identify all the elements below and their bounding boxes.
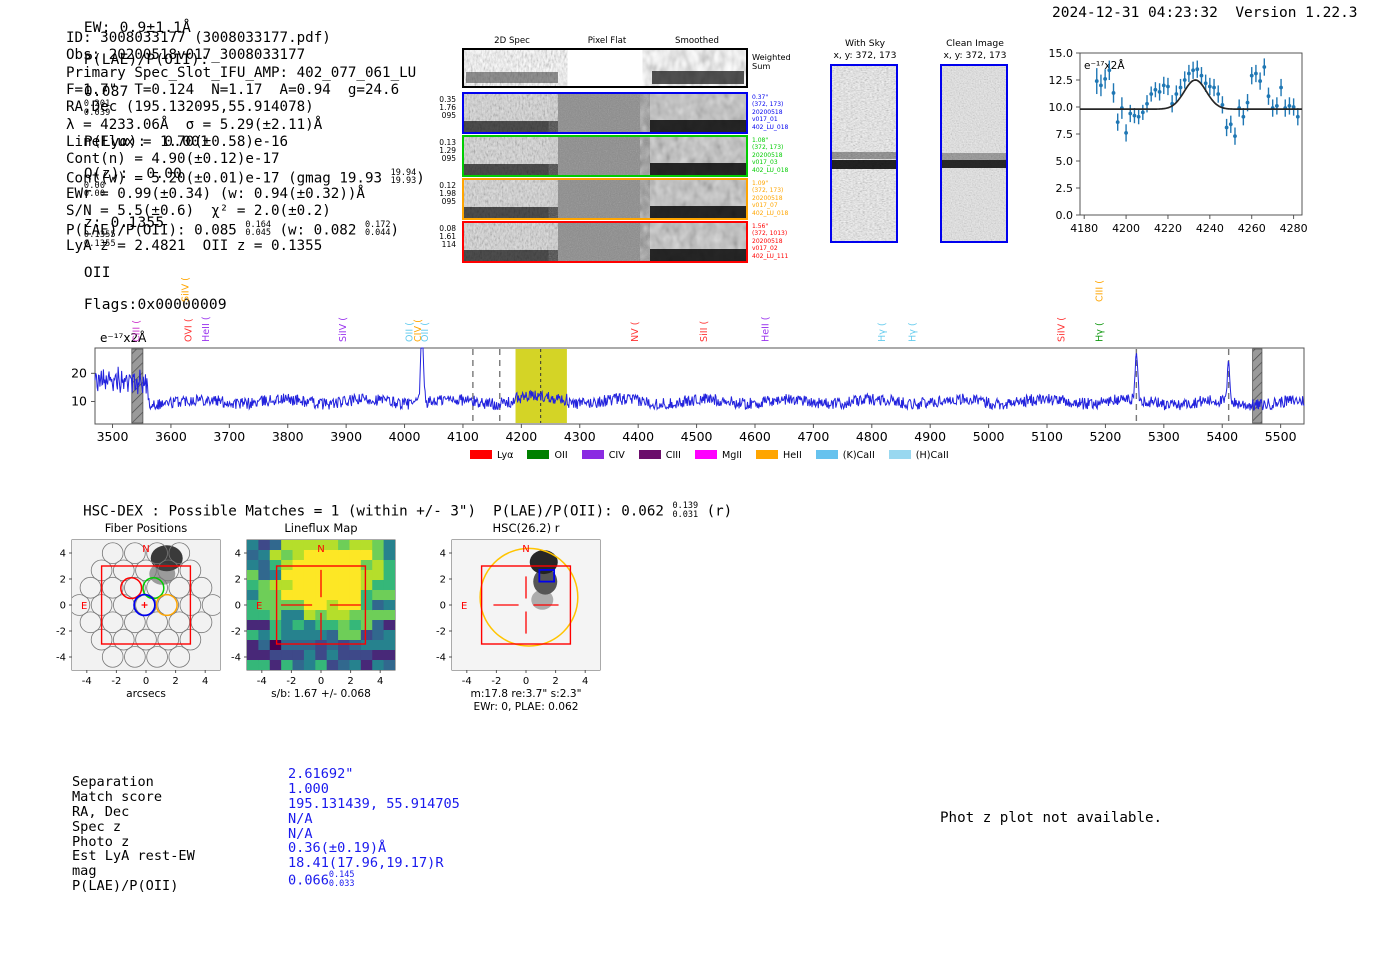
svg-text:0: 0 <box>318 676 324 687</box>
legend-label: HeII <box>783 450 802 461</box>
match-row-value: N/A <box>288 812 460 827</box>
svg-text:4600: 4600 <box>739 429 771 444</box>
info-id: ID: 3008033177 (3008033177.pdf) <box>66 30 425 47</box>
svg-text:5200: 5200 <box>1090 429 1122 444</box>
weighted-sum-row <box>462 48 748 88</box>
spectrum-legend: LyαOIICIVCIIIMgIIHeII(K)CaII(H)CaII <box>470 450 963 461</box>
fiber-values: 0.351.76095 <box>422 96 456 121</box>
panel-title: Fiber Positions <box>105 521 188 535</box>
spectrum-trace <box>95 348 1304 410</box>
with-sky-image <box>830 64 898 243</box>
header-flags: Flags:0x00000009 <box>84 297 227 313</box>
legend-swatch <box>889 450 911 459</box>
legend-item: CIII <box>639 450 681 461</box>
info-redshifts: LyA z = 2.4821 OII z = 0.1355 <box>66 238 425 255</box>
fiber-values: 0.121.98095 <box>422 182 456 207</box>
legend-item: MgII <box>695 450 742 461</box>
svg-text:5.0: 5.0 <box>1056 155 1074 168</box>
legend-swatch <box>527 450 549 459</box>
svg-text:5300: 5300 <box>1148 429 1180 444</box>
match-row-value: 0.0660.1450.033 <box>288 871 460 886</box>
info-ewr: EWr = 0.99(±0.34) (w: 0.94(±0.32))Å <box>66 186 425 203</box>
svg-text:3500: 3500 <box>97 429 129 444</box>
svg-text:-2: -2 <box>436 627 446 638</box>
svg-text:2: 2 <box>172 676 178 687</box>
svg-text:4200: 4200 <box>1112 222 1140 235</box>
svg-text:5500: 5500 <box>1265 429 1297 444</box>
match-row-value: 1.000 <box>288 782 460 797</box>
highlight-band <box>516 349 567 423</box>
emission-line-label: HeII ( <box>201 316 212 342</box>
svg-text:4: 4 <box>202 676 208 687</box>
svg-text:7.5: 7.5 <box>1056 128 1074 141</box>
svg-text:-4: -4 <box>436 653 446 664</box>
fiber-metadata: 1.56"(372, 1013)20200518v017_02402_LU_11… <box>752 223 788 260</box>
compass-east: E <box>256 601 262 612</box>
fiber-row <box>462 135 748 177</box>
svg-text:4: 4 <box>582 676 588 687</box>
match-row-value: 2.61692" <box>288 767 460 782</box>
svg-text:4500: 4500 <box>681 429 713 444</box>
svg-text:3600: 3600 <box>155 429 187 444</box>
match-row-value: 195.131439, 55.914705 <box>288 797 460 812</box>
svg-text:4: 4 <box>440 549 446 560</box>
legend-item: CIV <box>582 450 625 461</box>
svg-text:4: 4 <box>60 549 66 560</box>
col-header-2dspec: 2D Spec <box>462 36 562 46</box>
svg-text:2: 2 <box>347 676 353 687</box>
legend-item: HeII <box>756 450 802 461</box>
info-plae: P(LAE)/P(OII): 0.085 0.1640.045 (w: 0.08… <box>66 221 425 238</box>
svg-text:2.5: 2.5 <box>1056 182 1074 195</box>
info-radec: RA,Dec (195.132095,55.914078) <box>66 99 425 116</box>
svg-text:3900: 3900 <box>330 429 362 444</box>
info-cont-w: Cont(w) = 5.20(±0.01)e-17 (gmag 19.93 19… <box>66 169 425 186</box>
info-lineflux: LineFlux = 1.70(±0.58)e-16 <box>66 134 425 151</box>
fiber-spectrum-image <box>464 137 746 175</box>
svg-text:-4: -4 <box>82 676 92 687</box>
match-row-label: Match score <box>72 790 195 805</box>
svg-text:2: 2 <box>552 676 558 687</box>
svg-text:10: 10 <box>71 393 87 408</box>
svg-text:0: 0 <box>523 676 529 687</box>
emission-line-label: OVI ( <box>183 318 194 342</box>
svg-text:4100: 4100 <box>447 429 479 444</box>
fiber-spectrum-image <box>464 94 746 132</box>
svg-text:-2: -2 <box>491 676 501 687</box>
match-row-value: 0.36(±0.19)Å <box>288 841 460 856</box>
svg-text:2: 2 <box>235 575 241 586</box>
svg-text:10.0: 10.0 <box>1049 101 1074 114</box>
svg-text:4260: 4260 <box>1238 222 1266 235</box>
emission-line-label: SiII ( <box>699 321 710 342</box>
col-header-pixelflat: Pixel Flat <box>562 36 652 46</box>
svg-text:4240: 4240 <box>1196 222 1224 235</box>
emission-line-label: HeII ( <box>760 316 771 342</box>
panel-title: HSC(26.2) r <box>493 521 560 535</box>
svg-text:15.0: 15.0 <box>1049 47 1074 60</box>
clean-image-title: Clean Imagex, y: 372, 173 <box>930 38 1020 61</box>
svg-text:12.5: 12.5 <box>1049 74 1074 87</box>
legend-item: Lyα <box>470 450 513 461</box>
match-row-label: Est LyA rest-EW <box>72 849 195 864</box>
svg-text:0: 0 <box>235 601 241 612</box>
col-header-smoothed: Smoothed <box>647 36 747 46</box>
compass-north: N <box>317 544 324 555</box>
legend-label: CIV <box>609 450 625 461</box>
emission-line-label: OII ( <box>420 322 431 342</box>
compass-north: N <box>522 544 529 555</box>
compass-east: E <box>81 601 87 612</box>
svg-text:4900: 4900 <box>914 429 946 444</box>
svg-text:-4: -4 <box>56 653 66 664</box>
legend-swatch <box>639 450 661 459</box>
hsc-panels: Fiber PositionsNE-4-4-2-2002244arcsecsLi… <box>0 510 1400 740</box>
svg-text:4: 4 <box>377 676 383 687</box>
svg-text:4180: 4180 <box>1070 222 1098 235</box>
svg-text:4: 4 <box>235 549 241 560</box>
svg-text:-2: -2 <box>111 676 121 687</box>
panel-xlabel: m:17.8 re:3.7" s:2.3" <box>471 688 582 700</box>
match-row-label: Photo z <box>72 835 195 850</box>
emission-line-label: NV ( <box>630 321 641 342</box>
match-row-label: mag <box>72 864 195 879</box>
emission-line-zoom-plot: e⁻¹⁷x2Å0.02.55.07.510.012.515.0418042004… <box>1036 47 1308 219</box>
svg-text:5000: 5000 <box>973 429 1005 444</box>
object-info-block: ID: 3008033177 (3008033177.pdf) Obs: 202… <box>66 30 425 255</box>
info-primary-spec: Primary Spec_Slot_IFU_AMP: 402_077_061_L… <box>66 65 425 82</box>
match-row-label: Separation <box>72 775 195 790</box>
fiber-spectrum-image <box>464 180 746 218</box>
legend-label: CIII <box>666 450 681 461</box>
fiber-spectrum-image <box>464 223 746 261</box>
weighted-sum-label: Weighted Sum <box>752 53 791 72</box>
legend-swatch <box>582 450 604 459</box>
emission-line-label: CIII ( <box>131 320 142 342</box>
svg-text:-2: -2 <box>231 627 241 638</box>
timestamp-version: 2024-12-31 04:23:32 Version 1.22.3 <box>1052 5 1358 21</box>
info-fwhm: F=1.7" T=0.124 N=1.17 A=0.94 g=24.6 <box>66 82 425 99</box>
svg-text:4280: 4280 <box>1280 222 1308 235</box>
fiber-row <box>462 221 748 263</box>
legend-label: MgII <box>722 450 742 461</box>
svg-text:5100: 5100 <box>1031 429 1063 444</box>
legend-item: (K)CaII <box>816 450 875 461</box>
svg-text:4700: 4700 <box>797 429 829 444</box>
match-table-values: 2.61692"1.000195.131439, 55.914705N/AN/A… <box>288 767 460 886</box>
svg-text:-2: -2 <box>56 627 66 638</box>
svg-text:e⁻¹⁷x2Å: e⁻¹⁷x2Å <box>100 330 147 345</box>
svg-text:-4: -4 <box>257 676 267 687</box>
svg-text:0: 0 <box>60 601 66 612</box>
fiber-metadata: 1.09"(372, 173)20200518v017_07402_LU_018 <box>752 180 788 217</box>
legend-swatch <box>695 450 717 459</box>
legend-item: OII <box>527 450 567 461</box>
masked-band <box>132 349 143 423</box>
match-row-label: P(LAE)/P(OII) <box>72 879 195 894</box>
emission-line-label: SiIV ( <box>1057 317 1068 342</box>
svg-text:0: 0 <box>143 676 149 687</box>
legend-label: Lyα <box>497 450 513 461</box>
legend-label: (K)CaII <box>843 450 875 461</box>
info-lambda-sigma: λ = 4233.06Å σ = 5.29(±2.11)Å <box>66 117 425 134</box>
emission-line-label: Hγ ( <box>908 322 919 342</box>
info-snr-chi2: S/N = 5.5(±0.6) χ² = 2.0(±0.2) <box>66 203 425 220</box>
panel-xlabel2: EWr: 0, PLAE: 0.062 <box>473 701 578 713</box>
compass-north: N <box>142 544 149 555</box>
legend-label: (H)CaII <box>916 450 949 461</box>
info-cont-n: Cont(n) = 4.90(±0.12)e-17 <box>66 151 425 168</box>
svg-text:-4: -4 <box>462 676 472 687</box>
legend-swatch <box>816 450 838 459</box>
panel-xlabel: arcsecs <box>126 688 166 700</box>
fiber-values: 0.131.29095 <box>422 139 456 164</box>
panel-title: Lineflux Map <box>284 521 357 535</box>
fiber-row <box>462 92 748 134</box>
legend-swatch <box>470 450 492 459</box>
compass-east: E <box>461 601 467 612</box>
weighted-sum-image <box>464 50 746 86</box>
svg-text:0.0: 0.0 <box>1056 209 1074 222</box>
svg-text:3800: 3800 <box>272 429 304 444</box>
emission-line-label: CIII ( <box>1095 280 1106 302</box>
fiber-metadata: 1.08"(372, 173)20200518v017_03402_LU_018 <box>752 137 788 174</box>
emission-line-label: Hγ ( <box>877 322 888 342</box>
emission-line-label: SiIV ( <box>338 317 349 342</box>
svg-text:-4: -4 <box>231 653 241 664</box>
emission-line-label: CIV ( <box>413 319 424 342</box>
svg-text:4200: 4200 <box>505 429 537 444</box>
legend-label: OII <box>554 450 567 461</box>
masked-band <box>1253 349 1262 423</box>
clean-image <box>940 64 1008 243</box>
svg-text:20: 20 <box>71 365 87 380</box>
svg-text:4220: 4220 <box>1154 222 1182 235</box>
legend-swatch <box>756 450 778 459</box>
svg-text:5400: 5400 <box>1206 429 1238 444</box>
svg-text:-2: -2 <box>286 676 296 687</box>
emission-line-label: Hγ ( <box>1095 322 1106 342</box>
match-row-label: Spec z <box>72 820 195 835</box>
with-sky-title: With Skyx, y: 372, 173 <box>820 38 910 61</box>
panel-xlabel: s/b: 1.67 +/- 0.068 <box>271 688 371 700</box>
svg-text:4400: 4400 <box>622 429 654 444</box>
match-row-value: 18.41(17.96,19.17)R <box>288 856 460 871</box>
svg-text:4800: 4800 <box>856 429 888 444</box>
photz-unavailable-message: Phot z plot not available. <box>940 810 1162 826</box>
legend-item: (H)CaII <box>889 450 949 461</box>
fiber-row <box>462 178 748 220</box>
svg-text:4000: 4000 <box>389 429 421 444</box>
svg-text:3700: 3700 <box>213 429 245 444</box>
fiber-metadata: 0.37"(372, 173)20200518v017_01402_LU_018 <box>752 94 788 131</box>
svg-text:2: 2 <box>440 575 446 586</box>
match-table-labels: SeparationMatch scoreRA, DecSpec zPhoto … <box>72 775 195 894</box>
svg-text:4300: 4300 <box>564 429 596 444</box>
info-obs: Obs: 20200518v017_3008033177 <box>66 47 425 64</box>
emission-line-label: OII ( <box>405 322 416 342</box>
fiber-values: 0.081.61114 <box>422 225 456 250</box>
match-row-label: RA, Dec <box>72 805 195 820</box>
header-z-type: OII <box>84 265 111 281</box>
svg-text:0: 0 <box>440 601 446 612</box>
svg-text:2: 2 <box>60 575 66 586</box>
